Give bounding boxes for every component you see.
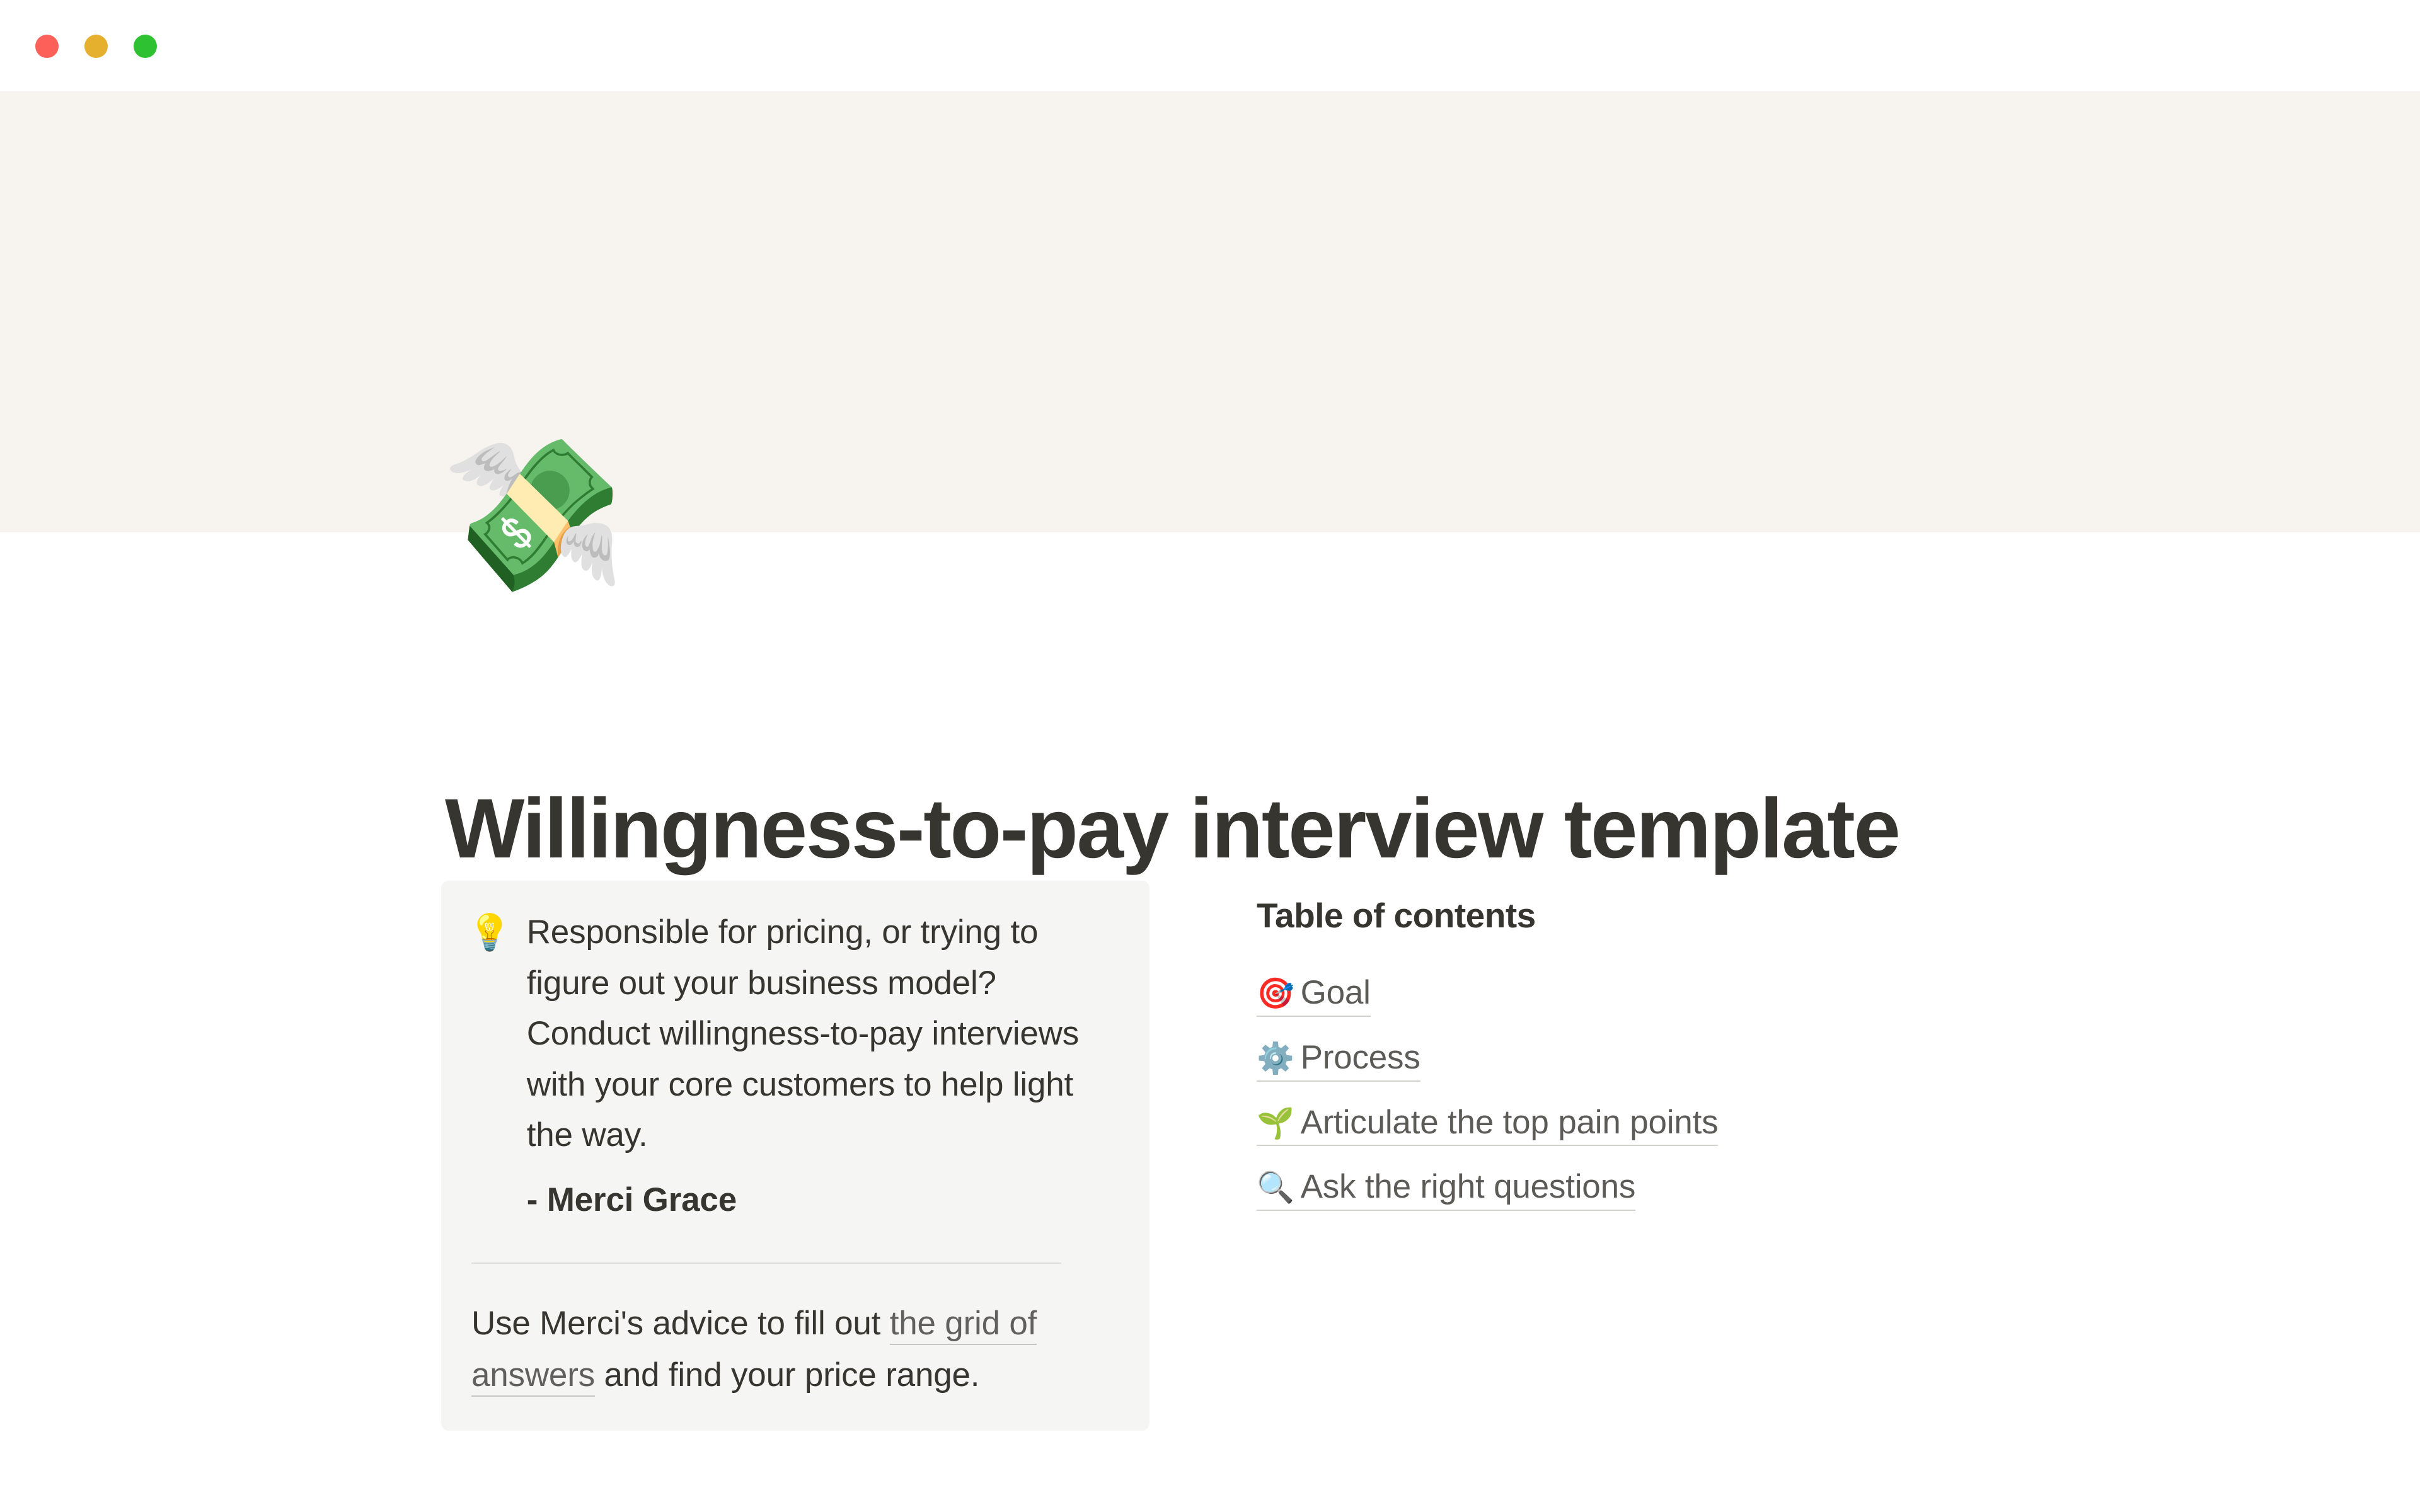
callout-footer: Use Merci's advice to fill out the grid … (471, 1298, 1114, 1401)
toc-heading: Table of contents (1257, 895, 1887, 936)
list-item: 🌱Articulate the top pain points (1257, 1101, 1887, 1147)
close-window-button[interactable] (35, 35, 59, 58)
page-title[interactable]: Willingness-to-pay interview template (445, 784, 2273, 874)
target-icon: 🎯 (1257, 977, 1294, 1011)
window-controls (35, 35, 157, 58)
page-icon[interactable]: 💸 (441, 441, 618, 617)
magnifier-icon: 🔍 (1257, 1171, 1294, 1205)
toc-link-goal[interactable]: 🎯Goal (1257, 971, 1371, 1017)
callout-divider (471, 1263, 1061, 1264)
callout-attribution: - Merci Grace (527, 1175, 1114, 1225)
callout-body: Responsible for pricing, or trying to fi… (527, 907, 1114, 1225)
toc-label: Goal (1301, 974, 1371, 1011)
callout-block[interactable]: 💡 Responsible for pricing, or trying to … (441, 881, 1149, 1431)
callout-top: 💡 Responsible for pricing, or trying to … (468, 907, 1114, 1225)
table-of-contents: Table of contents 🎯Goal ⚙️Process 🌱Artic… (1257, 881, 1887, 1230)
callout-text: Responsible for pricing, or trying to fi… (527, 907, 1114, 1161)
maximize-window-button[interactable] (134, 35, 157, 58)
toc-link-process[interactable]: ⚙️Process (1257, 1036, 1420, 1082)
toc-link-pain-points[interactable]: 🌱Articulate the top pain points (1257, 1101, 1718, 1147)
toc-list: 🎯Goal ⚙️Process 🌱Articulate the top pain… (1257, 971, 1887, 1211)
list-item: 🔍Ask the right questions (1257, 1165, 1887, 1211)
lightbulb-icon: 💡 (468, 907, 512, 958)
seedling-icon: 🌱 (1257, 1107, 1294, 1140)
callout-footer-suffix: and find your price range. (595, 1356, 979, 1394)
gear-icon: ⚙️ (1257, 1042, 1294, 1075)
body-columns: 💡 Responsible for pricing, or trying to … (441, 881, 1991, 1431)
callout-footer-prefix: Use Merci's advice to fill out (471, 1305, 890, 1342)
window-titlebar (0, 0, 2420, 91)
toc-label: Ask the right questions (1301, 1168, 1636, 1205)
toc-label: Articulate the top pain points (1301, 1104, 1719, 1141)
page-content: 💸 Willingness-to-pay interview template … (0, 91, 2420, 1512)
list-item: ⚙️Process (1257, 1036, 1887, 1082)
toc-link-questions[interactable]: 🔍Ask the right questions (1257, 1165, 1635, 1211)
toc-label: Process (1301, 1039, 1420, 1076)
list-item: 🎯Goal (1257, 971, 1887, 1017)
minimize-window-button[interactable] (84, 35, 108, 58)
